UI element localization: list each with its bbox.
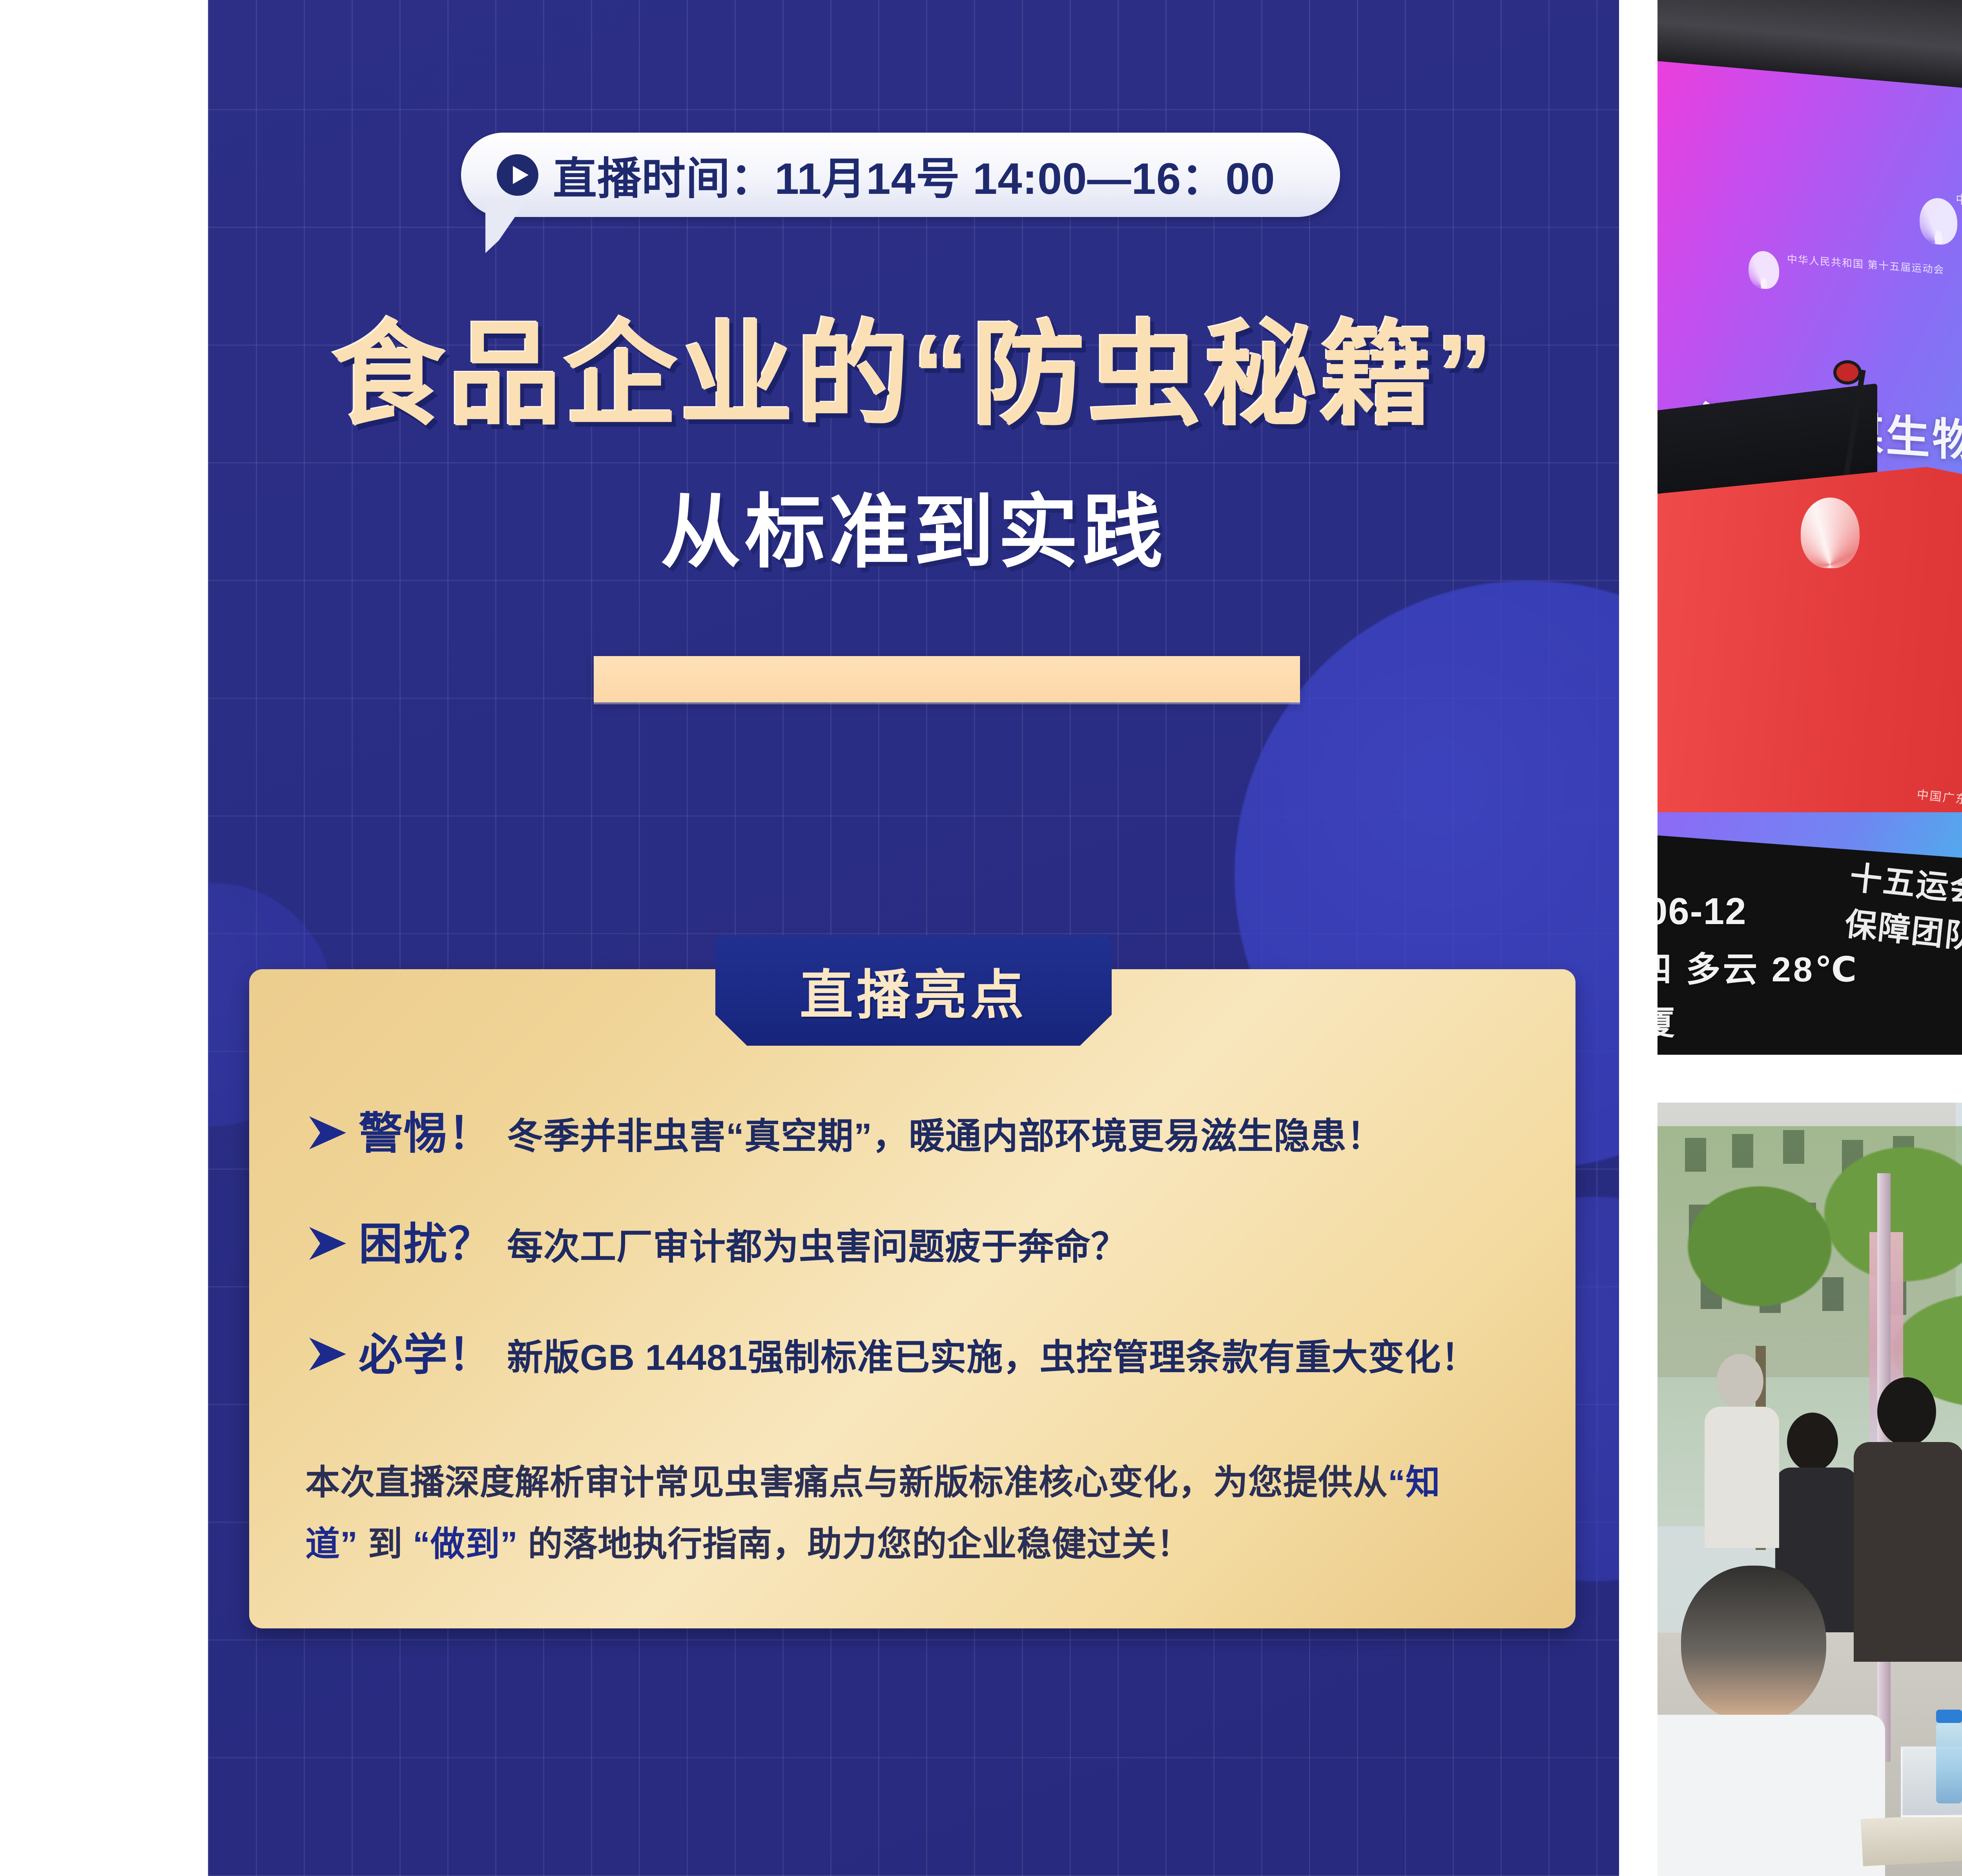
bullet-text: 冬季并非虫害“真空期”，暖通内部环境更易滋生隐患！ [507, 1107, 1383, 1159]
arrow-right-icon [305, 1114, 352, 1154]
highlights-banner-label: 直播亮点 [800, 952, 1027, 1029]
live-stream-poster: 直播时间：11月14号 14:00—16：00 食品企业的“防虫秘籍” 从标准到… [208, 0, 1619, 1876]
microphone-icon [1833, 360, 1862, 385]
photo-top-scene: 中华人民共和国 第十五届运动会 中华人民共和国第十二届残疾人运动会 暨第九届特殊… [1657, 0, 1962, 1055]
arrow-right-icon [305, 1335, 352, 1375]
poster-headline: 食品企业的“防虫秘籍” [208, 283, 1619, 447]
poster-subheadline: 从标准到实践 [208, 467, 1619, 583]
closing-line-1: 本次直播深度解析审计常见虫害痛点与新版标准核心变化，为您提供从 [305, 1463, 1388, 1502]
closing-line-2: 的落地执行指南，助力您的企业稳健过关！ [518, 1524, 1191, 1563]
closing-emphasis-2: “做到” [413, 1524, 518, 1563]
photo-bottom-scene [1657, 1103, 1962, 1876]
list-item: 必学！ 新版GB 14481强制标准已实施，虫控管理条款有重大变化！ [305, 1319, 1467, 1383]
watermark-place: 厦 [1657, 997, 1675, 1044]
list-item: 警惕！ 冬季并非虫害“真空期”，暖通内部环境更易滋生隐患！ [305, 1098, 1467, 1161]
podium-emblem-icon [1801, 498, 1860, 568]
conference-speaker-photo: 中华人民共和国 第十五届运动会 中华人民共和国第十二届残疾人运动会 暨第九届特殊… [1657, 0, 1962, 1055]
podium-banner-text: 十五运会和残特奥会深圳赛区 酒店运行保障团队培训 [1843, 855, 1962, 1008]
closing-mid: 到 [358, 1524, 413, 1563]
live-time-badge: 直播时间：11月14号 14:00—16：00 [461, 133, 1340, 217]
highlights-banner: 直播亮点 [715, 935, 1112, 1046]
bullet-text: 新版GB 14481强制标准已实施，虫控管理条款有重大变化！ [507, 1328, 1477, 1380]
poster-page: 直播时间：11月14号 14:00—16：00 食品企业的“防虫秘籍” 从标准到… [0, 0, 1962, 1876]
list-item: 困扰？ 每次工厂审计都为虫害问题疲于奔命？ [305, 1209, 1467, 1272]
outdoor-community-event-photo [1657, 1103, 1962, 1876]
arrow-right-icon [305, 1225, 352, 1264]
bullet-keyword: 警惕！ [359, 1098, 493, 1161]
subheadline-underline-bar [594, 656, 1300, 702]
bullet-text: 每次工厂审计都为虫害问题疲于奔命？ [507, 1218, 1127, 1270]
bullet-keyword: 必学！ [359, 1319, 493, 1383]
bullet-keyword: 困扰？ [359, 1209, 493, 1272]
closing-paragraph: 本次直播深度解析审计常见虫害痛点与新版标准核心变化，为您提供从“知道” 到 “做… [305, 1452, 1475, 1575]
play-circle-icon [496, 153, 540, 197]
live-time-text: 直播时间：11月14号 14:00—16：00 [553, 143, 1275, 207]
watermark-date: -06-12 [1657, 890, 1747, 933]
highlights-bullet-list: 警惕！ 冬季并非虫害“真空期”，暖通内部环境更易滋生隐患！ 困扰？ 每次工厂审计… [305, 1098, 1467, 1430]
watermark-weather: 四 多云 28℃ [1657, 942, 1859, 992]
